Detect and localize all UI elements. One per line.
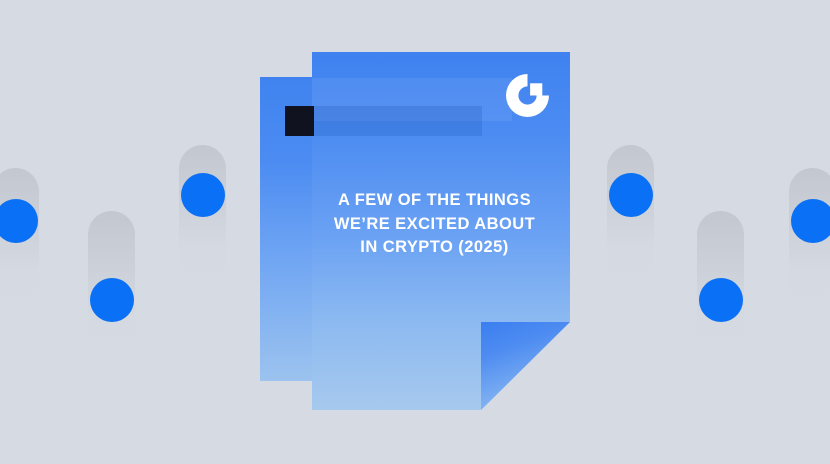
slider-4-knob	[609, 173, 653, 217]
dark-accent-square	[285, 106, 314, 136]
page-fold-corner	[481, 322, 570, 410]
slider-2-knob	[90, 278, 134, 322]
slider-1-track	[0, 168, 39, 320]
page-title: A FEW OF THE THINGS WE’RE EXCITED ABOUT …	[312, 189, 557, 260]
coinbase-g-logo-icon	[506, 74, 549, 117]
slider-6-knob	[791, 199, 830, 243]
slider-3-knob	[181, 173, 225, 217]
document-header-bar	[285, 106, 482, 136]
slider-5-knob	[699, 278, 743, 322]
slider-4-track	[607, 145, 654, 297]
slider-3-track	[179, 145, 226, 297]
slider-6-track	[789, 168, 830, 320]
slide-canvas: A FEW OF THE THINGS WE’RE EXCITED ABOUT …	[0, 0, 830, 464]
